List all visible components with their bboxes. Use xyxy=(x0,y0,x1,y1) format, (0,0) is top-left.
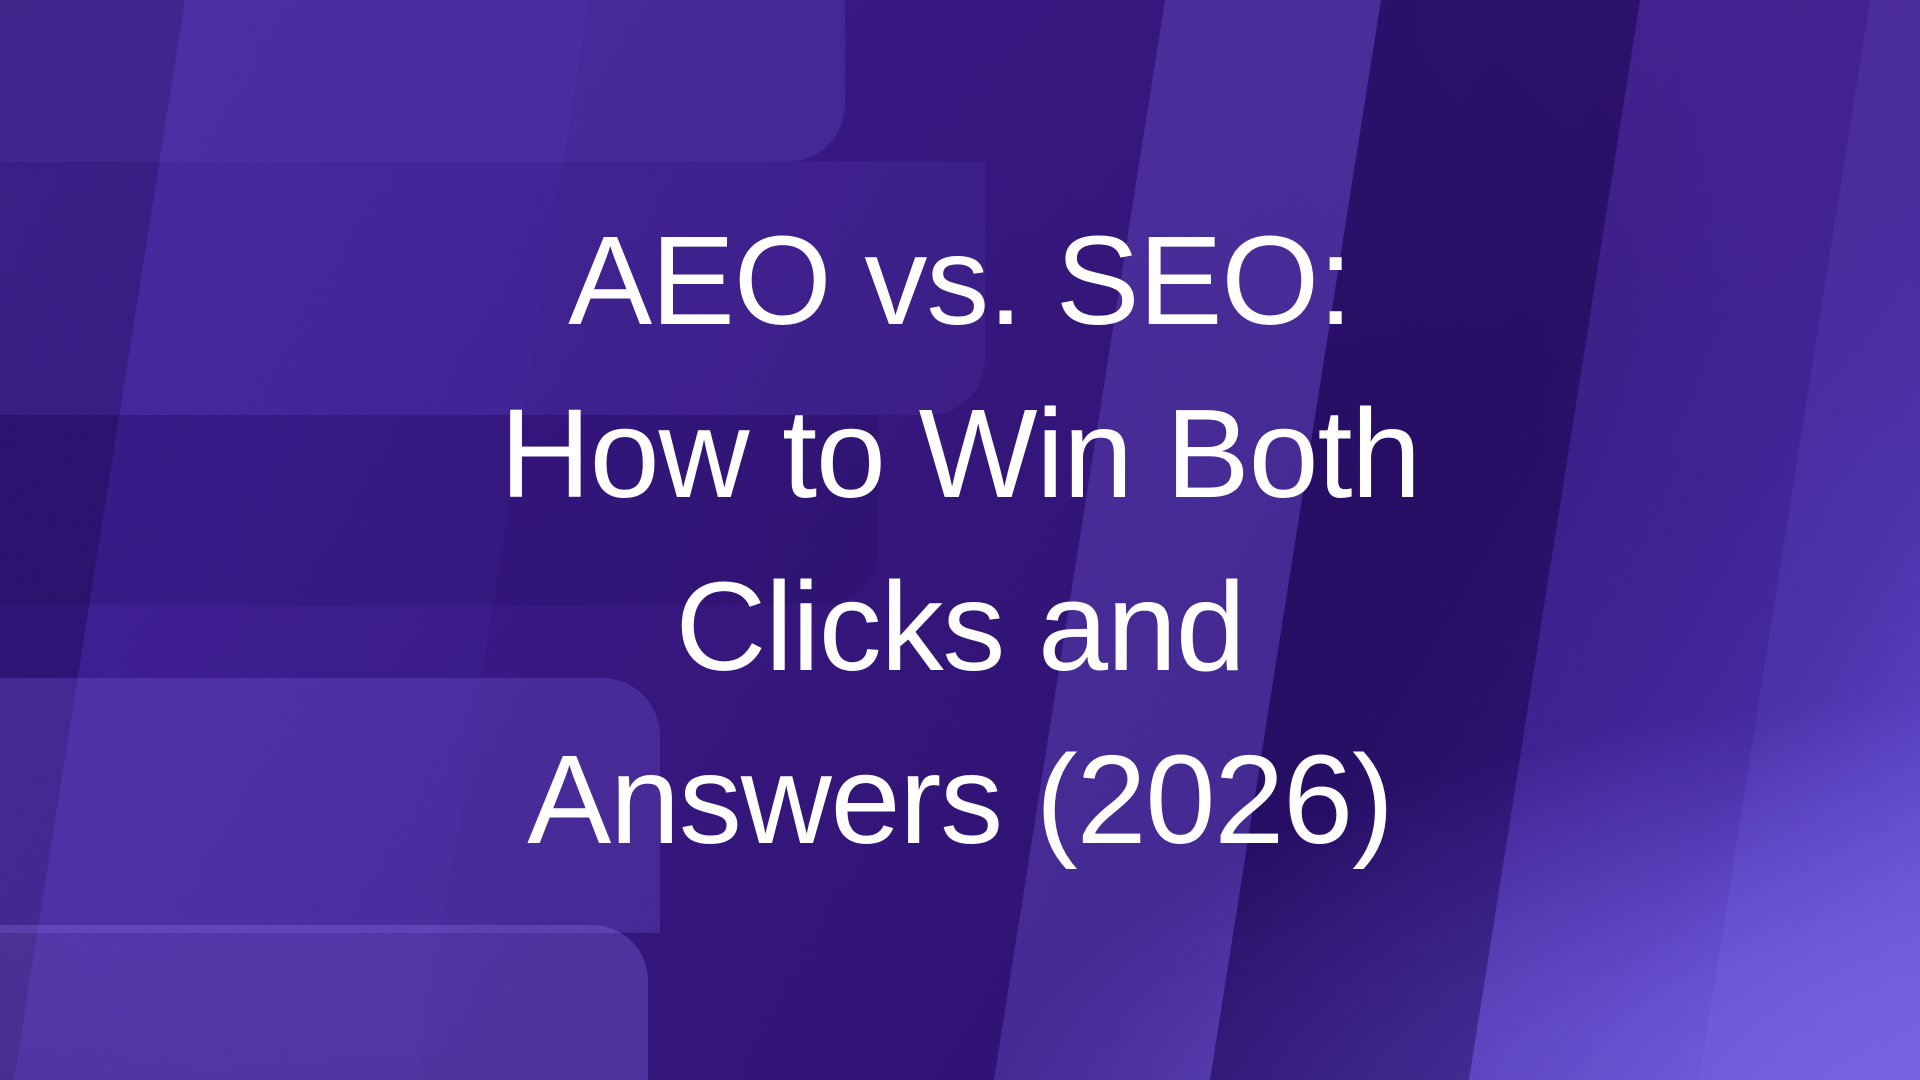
title-block: AEO vs. SEO:How to Win BothClicks andAns… xyxy=(0,0,1920,1080)
title-line-1: AEO vs. SEO: xyxy=(360,194,1560,367)
title-line-3: Clicks and xyxy=(360,540,1560,713)
card-title: AEO vs. SEO:How to Win BothClicks andAns… xyxy=(360,194,1560,886)
title-line-2: How to Win Both xyxy=(360,367,1560,540)
social-card-canvas: AEO vs. SEO:How to Win BothClicks andAns… xyxy=(0,0,1920,1080)
title-line-4: Answers (2026) xyxy=(360,713,1560,886)
